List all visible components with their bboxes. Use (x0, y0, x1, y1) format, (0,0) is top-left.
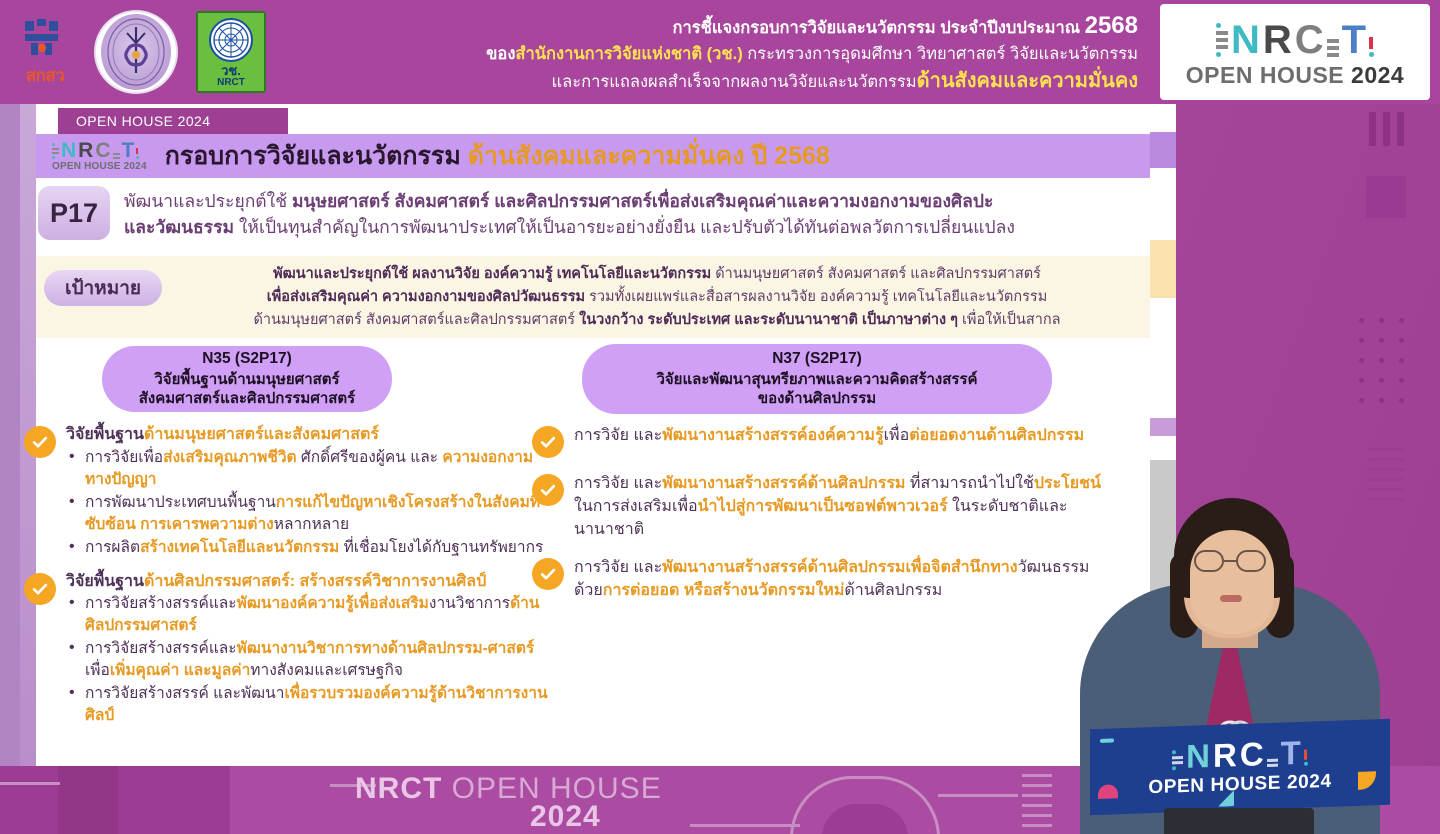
program-code-badge: P17 (38, 186, 110, 240)
nrct-open-house-logo: N R C T OPEN HOUSE 2024 (1160, 4, 1430, 100)
podium-subtitle: OPEN HOUSE 2024 (1148, 771, 1331, 799)
right-item-body: การวิจัย และพัฒนางานสร้างสรรค์ด้านศิลปกร… (574, 556, 1112, 602)
bottom-line-right (938, 794, 1018, 797)
presenter-glasses-bridge (1224, 560, 1236, 562)
emphasis-text: พัฒนางานสร้างสรรค์องค์ความรู้ (662, 427, 883, 444)
podium-letter-r: R (1213, 738, 1237, 772)
left-bullet-list: การวิจัยเพื่อส่งเสริมคุณภาพชีวิต ศักดิ์ศ… (66, 447, 554, 559)
logo-royal-seal (94, 10, 178, 94)
heading-plain: วิจัยพื้นฐาน (66, 573, 144, 590)
n35-line-1: วิจัยพื้นฐานด้านมนุษยศาสตร์ (139, 370, 355, 390)
slide-nrct-dots-icon (52, 143, 59, 161)
n35-code: N35 (S2P17) (139, 349, 355, 369)
plain-text: การพัฒนาประเทศบนพื้นฐาน (85, 494, 276, 511)
emphasis-text: พัฒนาองค์ความรู้เพื่อส่งเสริม (237, 595, 429, 612)
program-row: P17 พัฒนาและประยุกต์ใช้ มนุษยศาสตร์ สังค… (36, 186, 1150, 241)
subprogram-pill-n35[interactable]: N35 (S2P17) วิจัยพื้นฐานด้านมนุษยศาสตร์ … (102, 346, 392, 412)
program-description-line-2: และวัฒนธรรม ให้เป็นทุนสำคัญในการพัฒนาประ… (124, 214, 1015, 240)
decor-block-lilac (1150, 132, 1176, 168)
nrct-letter-r: R (1263, 20, 1292, 60)
podium-confetti-1 (1100, 738, 1114, 742)
podium-stand (1164, 808, 1314, 834)
presenter-mouth (1220, 595, 1242, 602)
right-item-text: การวิจัย และพัฒนางานสร้างสรรค์องค์ความรู… (574, 424, 1112, 447)
nrct-logo-subtitle: OPEN HOUSE 2024 (1186, 62, 1404, 89)
podium-letter-n: N (1186, 739, 1210, 773)
bottom-line-left (0, 782, 60, 785)
decor-square (1366, 176, 1406, 218)
right-item-text: การวิจัย และพัฒนางานสร้างสรรค์ด้านศิลปกร… (574, 472, 1112, 542)
plain-text: การวิจัยสร้างสรรค์ และพัฒนา (85, 685, 284, 702)
podium-dots-left-icon (1172, 750, 1183, 773)
bottom-banner-brand: NRCT (355, 772, 442, 805)
goal-line-3: ด้านมนุษยศาสตร์ สังคมศาสตร์และศิลปกรรมศา… (174, 309, 1140, 332)
plain-text: หลากหลาย (274, 516, 349, 533)
goal-badge-label: เป้าหมาย (65, 273, 141, 303)
left-column: วิจัยพื้นฐานด้านมนุษยศาสตร์และสังคมศาสตร… (24, 424, 554, 739)
right-item-2: การวิจัย และพัฒนางานสร้างสรรค์ด้านศิลปกร… (532, 472, 1112, 542)
slide-title-bar: N R C T OPEN HOUSE 2024 กรอบการวิจัยและน… (36, 134, 1150, 178)
check-icon (24, 426, 56, 458)
slide-heading: กรอบการวิจัยและนวัตกรรม ด้านสังคมและความ… (165, 136, 830, 176)
goal-badge: เป้าหมาย (44, 270, 162, 306)
goal-line-1: พัฒนาและประยุกต์ใช้ ผลงานวิจัย องค์ความร… (174, 263, 1140, 286)
emphasis-text: นำไปสู่การพัฒนาเป็นซอฟต์พาวเวอร์ (698, 498, 952, 515)
plain-text: ศักดิ์ศรีของผู้คน และ (301, 449, 442, 466)
plain-text: ด้านศิลปกรรม (844, 582, 942, 599)
slide-nrct-letter-r: R (78, 140, 93, 161)
right-item-3: การวิจัย และพัฒนางานสร้างสรรค์ด้านศิลปกร… (532, 556, 1112, 602)
check-icon (24, 573, 56, 605)
slide-nrct-letter-c: C (95, 140, 110, 161)
plain-text: ที่สามารถนำไปใช้ (910, 475, 1034, 492)
program-description: พัฒนาและประยุกต์ใช้ มนุษยศาสตร์ สังคมศาส… (124, 186, 1015, 241)
check-icon (532, 474, 564, 506)
left-group-heading: วิจัยพื้นฐานด้านศิลปกรรมศาสตร์: สร้างสรร… (66, 571, 554, 593)
slide-nrct-dots-mid-icon (113, 153, 120, 161)
nrct-letter-n: N (1231, 20, 1260, 60)
plain-text: งานวิชาการ (429, 595, 510, 612)
podium-confetti-3 (1358, 771, 1376, 790)
plain-text: ในการส่งเสริมเพื่อ (574, 498, 698, 515)
nrct-dots-right-icon (1369, 37, 1374, 60)
plain-text: การวิจัยสร้างสรรค์และ (85, 640, 237, 657)
right-column: การวิจัย และพัฒนางานสร้างสรรค์องค์ความรู… (532, 424, 1112, 616)
logo-nrct-green-en: NRCT (217, 77, 245, 88)
podium-dots-mid-icon (1267, 759, 1278, 770)
right-item-body: การวิจัย และพัฒนางานสร้างสรรค์ด้านศิลปกร… (574, 472, 1112, 542)
plain-text: การวิจัย และ (574, 559, 662, 576)
plain-text: เพื่อ (85, 662, 110, 679)
left-group-body: วิจัยพื้นฐานด้านศิลปกรรมศาสตร์: สร้างสรร… (66, 571, 554, 729)
left-bullet-1-3: การผลิตสร้างเทคโนโลยีและนวัตกรรม ที่เชื่… (66, 537, 554, 559)
left-group-1: วิจัยพื้นฐานด้านมนุษยศาสตร์และสังคมศาสตร… (24, 424, 554, 560)
left-bullet-2-2: การวิจัยสร้างสรรค์และพัฒนางานวิชาการทางด… (66, 638, 554, 682)
goal-line-2: เพื่อส่งเสริมคุณค่า ความงอกงามของศิลปวัฒ… (174, 286, 1140, 309)
plain-text: เพื่อ (884, 427, 910, 444)
n35-line-2: สังคมศาสตร์และศิลปกรรมศาสตร์ (139, 389, 355, 409)
bottom-banner-text: NRCT OPEN HOUSE (355, 772, 662, 806)
left-group-2: วิจัยพื้นฐานด้านศิลปกรรมศาสตร์: สร้างสรร… (24, 571, 554, 729)
logo-nrct-green: วช. NRCT (196, 11, 266, 93)
nrct-dots-mid-icon (1327, 39, 1339, 60)
slide-tag-label: OPEN HOUSE 2024 (76, 113, 210, 129)
left-group-heading: วิจัยพื้นฐานด้านมนุษยศาสตร์และสังคมศาสตร… (66, 424, 554, 446)
bottom-banner-year: 2024 (530, 800, 601, 834)
right-item-body: การวิจัย และพัฒนางานสร้างสรรค์องค์ความรู… (574, 424, 1112, 458)
logo-nrct-green-th: วช. (221, 64, 241, 77)
emphasis-text: เพิ่มคุณค่า และมูลค่า (110, 662, 250, 679)
emphasis-text: ต่อยอดงานด้านศิลปกรรม (909, 427, 1084, 444)
header-line-2: ของสำนักงานการวิจัยแห่งชาติ (วช.) กระทรว… (266, 43, 1138, 66)
presenter-glasses-right (1236, 550, 1266, 572)
nrct-letter-c: C (1295, 20, 1324, 60)
sksw-emblem-icon (21, 19, 69, 59)
plain-text: การวิจัย และ (574, 427, 662, 444)
plain-text: การผลิต (85, 539, 140, 556)
nrct-wheel-icon (209, 18, 253, 62)
emphasis-text: พัฒนางานสร้างสรรค์ด้านศิลปกรรม (662, 475, 910, 492)
header-line-3: และการแถลงผลสำเร็จจากผลงานวิจัยและนวัตกร… (266, 67, 1138, 95)
slide-tag-banner: OPEN HOUSE 2024 (58, 108, 288, 134)
decor-bars (1369, 112, 1404, 146)
header-line-1: การชี้แจงกรอบการวิจัยและนวัตกรรม ประจำปี… (266, 9, 1138, 43)
emphasis-text: การเคารพความต่าง (140, 516, 274, 533)
plain-text: ทางสังคมและเศรษฐกิจ (250, 662, 403, 679)
presentation-slide: OPEN HOUSE 2024 N R C T OPEN HOUSE 2024 … (20, 104, 1150, 766)
goal-row: เป้าหมาย พัฒนาและประยุกต์ใช้ ผลงานวิจัย … (36, 256, 1150, 338)
nrct-wordmark: N R C T (1216, 16, 1374, 60)
right-item-text: การวิจัย และพัฒนางานสร้างสรรค์ด้านศิลปกร… (574, 556, 1112, 602)
bottom-line-arch (690, 824, 800, 827)
podium-dots-right-icon (1304, 750, 1308, 769)
n37-line-2: ของด้านศิลปกรรม (656, 389, 977, 409)
logo-sksw: สกสว (14, 13, 76, 91)
heading-emphasis: ด้านศิลปกรรมศาสตร์: สร้างสรรค์วิชาการงาน… (144, 573, 486, 590)
left-group-body: วิจัยพื้นฐานด้านมนุษยศาสตร์และสังคมศาสตร… (66, 424, 554, 560)
heading-emphasis: ด้านมนุษยศาสตร์และสังคมศาสตร์ (144, 426, 379, 443)
plain-text: ที่เชื่อมโยงได้กับฐานทรัพยากร (344, 539, 544, 556)
royal-seal-icon (105, 17, 167, 87)
bottom-block-2 (58, 766, 118, 834)
slide-nrct-letter-n: N (61, 140, 76, 161)
slide-nrct-subtitle: OPEN HOUSE 2024 (52, 161, 147, 172)
emphasis-text: ส่งเสริมคุณภาพชีวิต (163, 449, 301, 466)
plain-text: การวิจัยเพื่อ (85, 449, 163, 466)
plain-text: วัฒนธรรม (1018, 559, 1090, 576)
left-bullet-1-1: การวิจัยเพื่อส่งเสริมคุณภาพชีวิต ศักดิ์ศ… (66, 447, 554, 491)
plain-text: การวิจัยสร้างสรรค์และ (85, 595, 237, 612)
check-icon (532, 558, 564, 590)
left-bullet-2-3: การวิจัยสร้างสรรค์ และพัฒนาเพื่อรวบรวมอง… (66, 683, 554, 727)
agency-logo-group: สกสว (0, 10, 266, 94)
goal-text: พัฒนาและประยุกต์ใช้ ผลงานวิจัย องค์ความร… (174, 262, 1140, 332)
emphasis-text: สร้างเทคโนโลยีและนวัตกรรม (140, 539, 344, 556)
heading-plain: วิจัยพื้นฐาน (66, 426, 144, 443)
slide-nrct-dots-right-icon (136, 148, 139, 161)
bottom-decor-lines (1022, 774, 1052, 827)
left-bullet-2-1: การวิจัยสร้างสรรค์และพัฒนาองค์ความรู้เพื… (66, 593, 554, 637)
decor-block-cream (1150, 240, 1176, 298)
emphasis-text: พัฒนางานสร้างสรรค์ด้านศิลปกรรมเพื่อจิตสำ… (662, 559, 1017, 576)
right-item-1: การวิจัย และพัฒนางานสร้างสรรค์องค์ความรู… (532, 424, 1112, 458)
nrct-letter-t: T (1342, 20, 1366, 60)
program-code-label: P17 (50, 198, 98, 229)
n37-line-1: วิจัยและพัฒนาสุนทรียภาพและความคิดสร้างสร… (656, 370, 977, 390)
podium-band: N R C T OPEN HOUSE 2024 (1090, 719, 1390, 815)
presenter-face (1190, 530, 1274, 634)
podium-letter-c: C (1240, 737, 1264, 771)
header-title-block: การชี้แจงกรอบการวิจัยและนวัตกรรม ประจำปี… (266, 9, 1160, 95)
nrct-dots-left-icon (1216, 23, 1228, 60)
podium-confetti-2 (1098, 784, 1118, 799)
n37-code: N37 (S2P17) (656, 349, 977, 369)
slide-nrct-letter-t: T (122, 140, 135, 161)
plain-text: ด้วย (574, 582, 603, 599)
podium-banner: N R C T OPEN HOUSE 2024 (1090, 716, 1390, 834)
subprogram-pill-n37[interactable]: N37 (S2P17) วิจัยและพัฒนาสุนทรียภาพและคว… (582, 344, 1052, 414)
emphasis-text: การต่อยอด หรือสร้างนวัตกรรมใหม่ (603, 582, 845, 599)
left-bullet-list: การวิจัยสร้างสรรค์และพัฒนาองค์ความรู้เพื… (66, 593, 554, 727)
decor-left-strip (0, 104, 20, 766)
check-icon (532, 426, 564, 458)
logo-sksw-text: สกสว (14, 62, 76, 89)
left-bullet-1-2: การพัฒนาประเทศบนพื้นฐานการแก้ไขปัญหาเชิง… (66, 492, 554, 536)
presenter-glasses-left (1194, 550, 1224, 572)
program-description-line-1: พัฒนาและประยุกต์ใช้ มนุษยศาสตร์ สังคมศาส… (124, 188, 1015, 214)
plain-text: การวิจัย และ (574, 475, 662, 492)
broadcast-header: สกสว (0, 0, 1440, 104)
slide-nrct-logo: N R C T OPEN HOUSE 2024 (52, 140, 147, 172)
emphasis-text: พัฒนางานวิชาการทางด้านศิลปกรรม-ศาสตร์ (237, 640, 535, 657)
podium-wordmark: N R C T (1172, 736, 1308, 774)
podium-letter-t: T (1281, 736, 1301, 770)
